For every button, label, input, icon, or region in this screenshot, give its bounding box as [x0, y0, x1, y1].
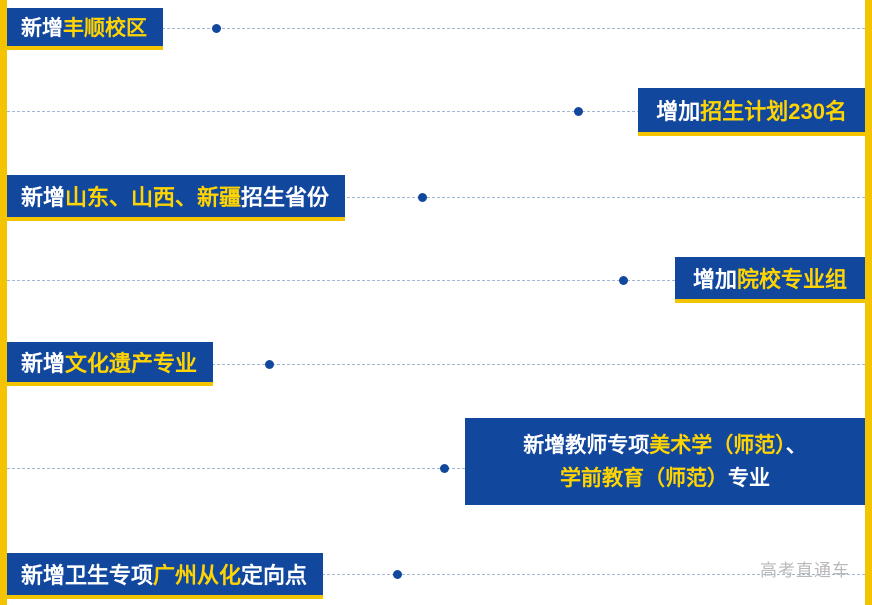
- infographic-canvas: 新增丰顺校区 增加招生计划230名 新增山东、山西、新疆招生省份 增加院校专业组…: [0, 0, 872, 605]
- callout-fengshun-text-plain: 新增: [21, 12, 63, 42]
- callout-jiaoshi[interactable]: 新增教师专项美术学（师范）、 学前教育（师范）专业: [465, 418, 865, 505]
- callout-jiaoshi-l1-highlight: 美术学（师范）: [649, 434, 786, 457]
- connector-dot-shengfen: [418, 193, 427, 202]
- callout-shengfen-text-highlight: 山东、山西、新疆: [65, 180, 241, 212]
- callout-weisheng-text-plain-1: 新增卫生专项: [21, 558, 153, 590]
- callout-jiaoshi-l2-highlight: 学前教育（师范）: [560, 467, 728, 490]
- connector-dot-weisheng: [393, 570, 402, 579]
- callout-jiaoshi-l2-plain: 专业: [728, 467, 770, 490]
- right-edge-bar: [865, 0, 872, 605]
- callout-wenhua-text-plain: 新增: [21, 346, 65, 378]
- callout-weisheng-text-plain-2: 定向点: [241, 558, 307, 590]
- callout-fengshun-text-highlight: 丰顺校区: [63, 12, 147, 42]
- callout-zhuanyezu-text-highlight: 院校专业组: [737, 262, 847, 294]
- connector-dot-zhaosheng: [574, 107, 583, 116]
- callout-shengfen-text-plain-2: 招生省份: [241, 180, 329, 212]
- callout-weisheng-text-highlight: 广州从化: [153, 558, 241, 590]
- callout-shengfen-text-plain-1: 新增: [21, 180, 65, 212]
- watermark: 高考直通车: [760, 556, 850, 581]
- callout-zhaosheng[interactable]: 增加招生计划230名: [638, 88, 865, 136]
- connector-dot-wenhua: [265, 360, 274, 369]
- callout-zhuanyezu-text-plain: 增加: [693, 262, 737, 294]
- callout-jiaoshi-line-2: 学前教育（师范）专业: [483, 463, 847, 496]
- connector-dot-jiaoshi: [440, 464, 449, 473]
- callout-jiaoshi-l1-sep: 、: [786, 434, 807, 457]
- callout-shengfen[interactable]: 新增山东、山西、新疆招生省份: [7, 175, 345, 221]
- callout-jiaoshi-line-1: 新增教师专项美术学（师范）、: [483, 430, 847, 463]
- connector-dot-fengshun: [212, 24, 221, 33]
- left-edge-bar: [0, 0, 7, 605]
- connector-dot-zhuanyezu: [619, 276, 628, 285]
- callout-zhaosheng-text-highlight: 招生计划230名: [700, 94, 847, 126]
- callout-wenhua-text-highlight: 文化遗产专业: [65, 346, 197, 378]
- callout-jiaoshi-l1-plain: 新增教师专项: [523, 434, 649, 457]
- callout-zhaosheng-text-plain: 增加: [656, 94, 700, 126]
- callout-fengshun[interactable]: 新增丰顺校区: [7, 8, 163, 50]
- callout-zhuanyezu[interactable]: 增加院校专业组: [675, 257, 865, 303]
- callout-weisheng[interactable]: 新增卫生专项广州从化定向点: [7, 553, 323, 599]
- callout-wenhua[interactable]: 新增文化遗产专业: [7, 342, 213, 386]
